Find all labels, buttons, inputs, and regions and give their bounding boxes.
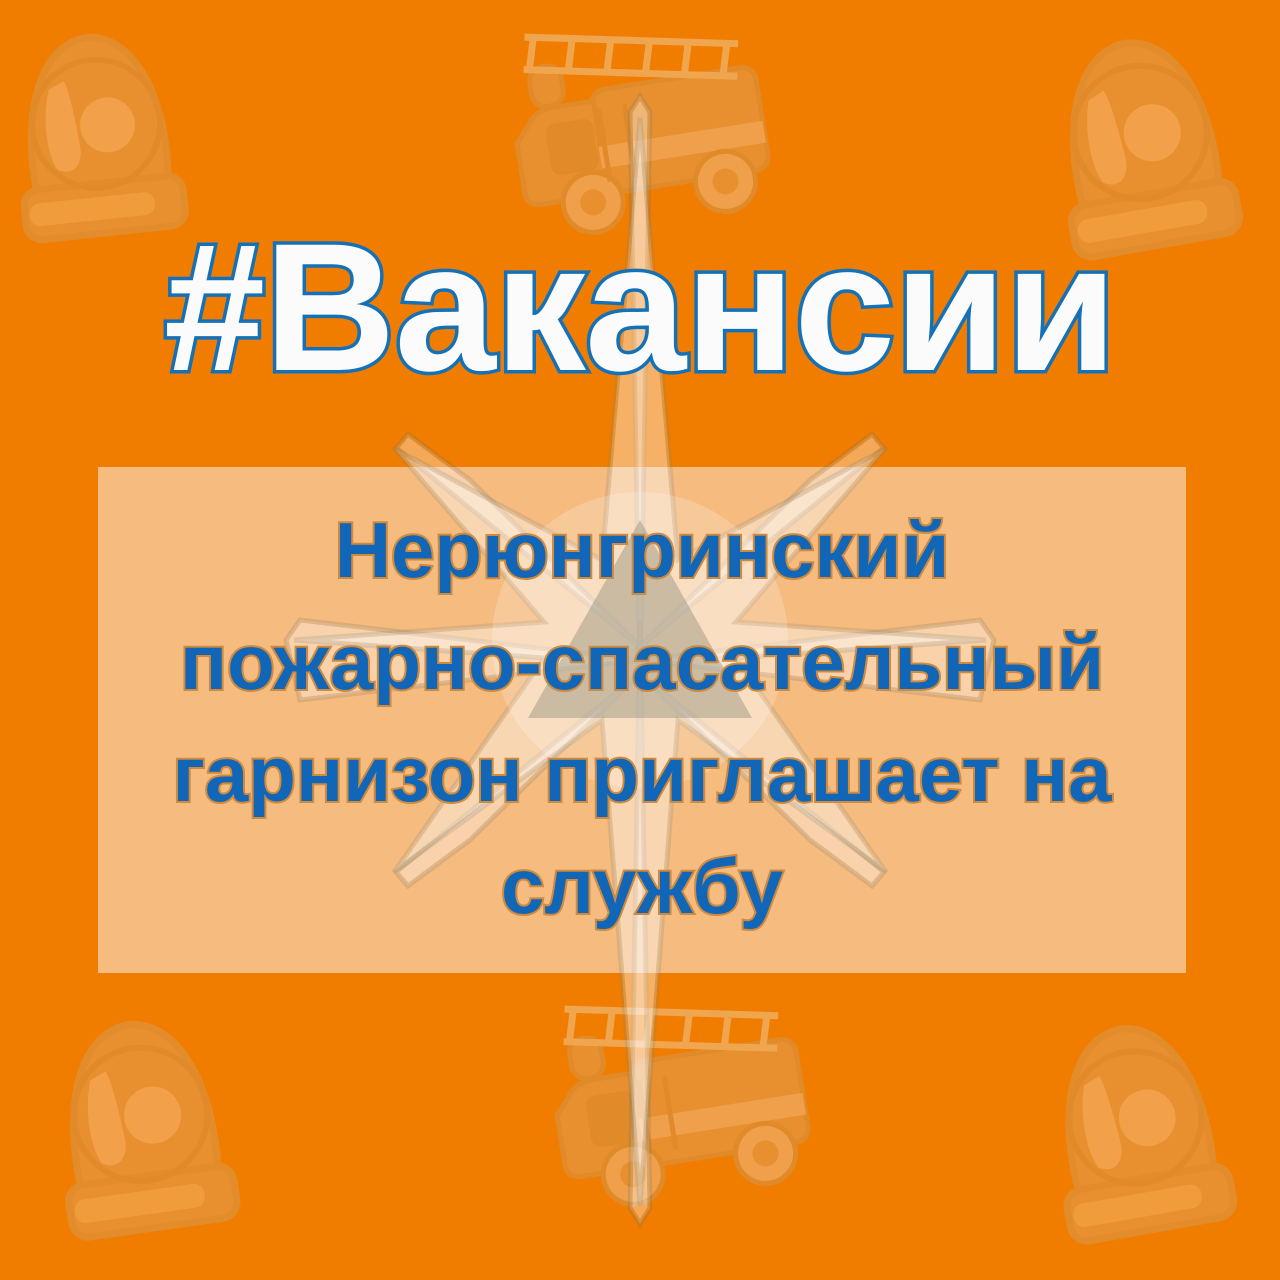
body-line-1: Нерюнгринский [104,494,1180,606]
page-title: #Вакансии [0,216,1280,398]
body-line-2: пожарно-спасательный [104,606,1180,718]
body-line-4: службу [104,830,1180,942]
body-line-3: гарнизон приглашает на [104,718,1180,830]
body-text: Нерюнгринский пожарно-спасательный гарни… [104,494,1180,942]
poster-canvas: #Вакансии Нерюнгринский пожарно-спасател… [0,0,1280,1280]
